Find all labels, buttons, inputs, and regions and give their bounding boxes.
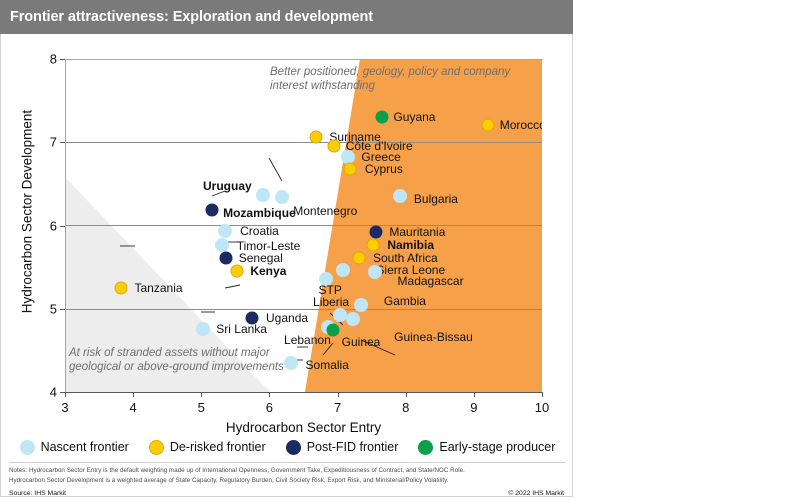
y-tick-4	[60, 392, 65, 393]
page-title: Frontier attractiveness: Exploration and…	[0, 9, 373, 25]
data-label-lebanon: Lebanon	[284, 333, 331, 347]
y-tick-6	[60, 226, 65, 227]
legend-swatch-postfid	[286, 440, 301, 455]
footnote-source: Source: IHS Markit	[9, 490, 66, 497]
x-tick-9	[474, 392, 475, 397]
legend-item-producer[interactable]: Early-stage producer	[418, 440, 555, 455]
y-tick-7	[60, 142, 65, 143]
data-point-bulgaria[interactable]	[393, 189, 407, 203]
axis-line-y	[65, 59, 66, 392]
y-tick-label-4: 4	[50, 385, 57, 400]
data-point-montenegro[interactable]	[275, 190, 289, 204]
data-point-mozambique[interactable]	[205, 203, 218, 216]
data-point-guinea-bissau[interactable]	[346, 312, 360, 326]
y-tick-8	[60, 59, 65, 60]
x-tick-label-6: 6	[266, 400, 273, 415]
data-point-senegal[interactable]	[219, 251, 232, 264]
data-point-madagascar[interactable]	[368, 265, 382, 279]
title-bar: Frontier attractiveness: Exploration and…	[0, 0, 573, 34]
data-point-mauritania[interactable]	[370, 226, 383, 239]
x-tick-3	[65, 392, 66, 397]
copyright-text: © 2022 IHS Markit	[508, 490, 564, 497]
data-label-gambia: Gambia	[384, 294, 426, 308]
data-label-mozambique: Mozambique	[223, 206, 296, 220]
data-label-croatia: Croatia	[240, 224, 279, 238]
data-point-liberia[interactable]	[333, 308, 347, 322]
legend-label-derisked: De-risked frontier	[170, 440, 266, 454]
x-tick-label-3: 3	[61, 400, 68, 415]
data-point-south-africa[interactable]	[353, 251, 366, 264]
x-tick-label-7: 7	[334, 400, 341, 415]
data-point-croatia[interactable]	[218, 224, 232, 238]
chart-legend: Nascent frontierDe-risked frontierPost-F…	[1, 434, 574, 460]
x-tick-label-5: 5	[198, 400, 205, 415]
legend-divider	[9, 462, 566, 463]
data-label-liberia: Liberia	[313, 295, 349, 309]
data-label-madagascar: Madagascar	[398, 274, 464, 288]
data-label-sri-lanka: Sri Lanka	[216, 322, 267, 336]
data-label-senegal: Senegal	[239, 251, 283, 265]
x-axis-title: Hydrocarbon Sector Entry	[65, 420, 542, 435]
x-tick-8	[406, 392, 407, 397]
data-label-guinea-bissau: Guinea-Bissau	[394, 330, 473, 344]
data-point-sierra-leone[interactable]	[336, 263, 350, 277]
data-point-somalia[interactable]	[284, 356, 298, 370]
data-points-layer: GuyanaMoroccoSurinameCôte d'IvoireGreece…	[65, 59, 542, 392]
data-label-bulgaria: Bulgaria	[414, 192, 458, 206]
data-label-somalia: Somalia	[306, 358, 349, 372]
legend-item-derisked[interactable]: De-risked frontier	[149, 440, 266, 455]
data-label-uruguay: Uruguay	[203, 179, 252, 193]
axis-line-x	[65, 392, 543, 393]
legend-swatch-producer	[418, 440, 433, 455]
legend-label-producer: Early-stage producer	[439, 440, 555, 454]
data-label-cyprus: Cyprus	[365, 162, 403, 176]
x-tick-label-4: 4	[130, 400, 137, 415]
x-tick-label-10: 10	[535, 400, 549, 415]
data-label-kenya: Kenya	[250, 264, 286, 278]
plot-top-border	[65, 59, 543, 60]
chart-screenshot: Frontier attractiveness: Exploration and…	[0, 0, 800, 500]
legend-label-nascent: Nascent frontier	[41, 440, 129, 454]
x-tick-label-9: 9	[470, 400, 477, 415]
data-point-morocco[interactable]	[482, 118, 495, 131]
data-label-montenegro: Montenegro	[293, 204, 357, 218]
data-label-uganda: Uganda	[266, 311, 308, 325]
data-point-guinea[interactable]	[326, 324, 339, 337]
x-tick-label-8: 8	[402, 400, 409, 415]
legend-label-postfid: Post-FID frontier	[307, 440, 399, 454]
data-label-mauritania: Mauritania	[389, 225, 445, 239]
data-label-guinea: Guinea	[342, 335, 381, 349]
y-tick-label-5: 5	[50, 301, 57, 316]
legend-item-nascent[interactable]: Nascent frontier	[20, 440, 129, 455]
x-tick-7	[338, 392, 339, 397]
x-tick-6	[269, 392, 270, 397]
legend-swatch-nascent	[20, 440, 35, 455]
y-tick-label-8: 8	[50, 52, 57, 67]
data-point-timor-leste[interactable]	[215, 238, 229, 252]
data-point-tanzania[interactable]	[114, 281, 127, 294]
data-point-cyprus[interactable]	[343, 162, 356, 175]
data-label-tanzania: Tanzania	[135, 281, 183, 295]
y-axis-title: Hydrocarbon Sector Development	[20, 92, 35, 332]
data-point-guyana[interactable]	[375, 111, 388, 124]
data-point-uruguay[interactable]	[256, 188, 270, 202]
data-point-sri-lanka[interactable]	[196, 322, 210, 336]
data-point-suriname[interactable]	[310, 131, 323, 144]
y-tick-label-6: 6	[50, 218, 57, 233]
data-label-morocco: Morocco	[500, 118, 542, 132]
data-point-gambia[interactable]	[354, 298, 368, 312]
legend-swatch-derisked	[149, 440, 164, 455]
x-tick-4	[133, 392, 134, 397]
legend-item-postfid[interactable]: Post-FID frontier	[286, 440, 399, 455]
x-tick-10	[542, 392, 543, 397]
footnote-notes: Notes: Hydrocarbon Sector Entry is the d…	[9, 466, 479, 485]
data-point-c-te-d-ivoire[interactable]	[328, 140, 341, 153]
y-tick-label-7: 7	[50, 135, 57, 150]
data-label-guyana: Guyana	[393, 110, 435, 124]
chart-figure: 45678 Hydrocarbon Sector Development	[0, 34, 573, 497]
data-point-kenya[interactable]	[230, 265, 243, 278]
x-tick-5	[201, 392, 202, 397]
y-tick-5	[60, 309, 65, 310]
plot-area: Better positioned, geology, policy and c…	[65, 59, 542, 392]
